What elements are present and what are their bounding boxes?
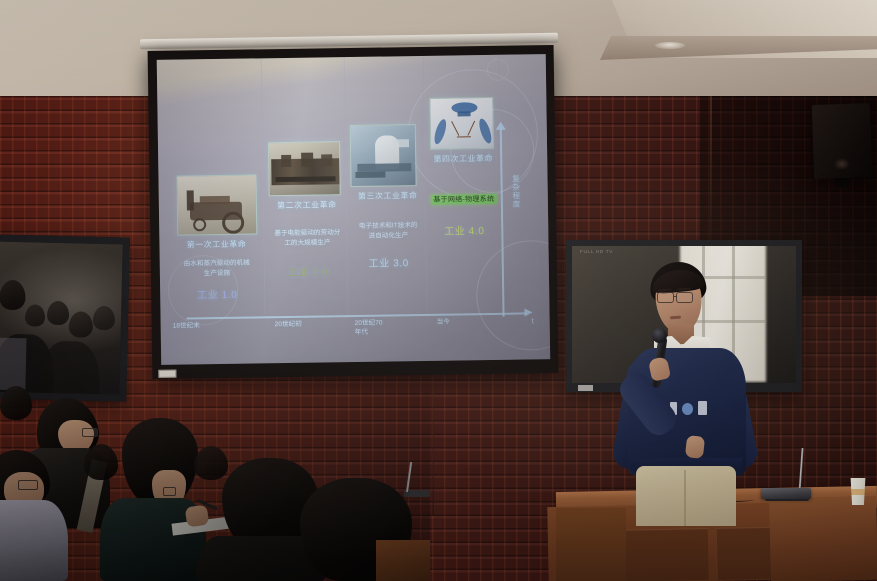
audience-glasses [163,487,176,496]
y-axis-label: 复杂程度 [510,174,522,208]
desk-side-left [556,508,626,581]
era-block-2: 第二次工业革命 基于电能驱动的劳动分 工的大规模生产 工业 2.0 [267,199,348,279]
era-2-description: 基于电能驱动的劳动分 工的大规模生产 [267,228,347,248]
wall-speaker [812,103,873,179]
slide-image-industrial-robot [350,124,417,187]
era-2-revolution-title: 第二次工业革命 [267,199,347,211]
glasses-right-lens [676,292,693,303]
presenter-right-hand [685,435,705,459]
audience-glasses [18,480,38,490]
x-axis-label: t [532,316,534,325]
era-block-3: 第三次工业革命 电子技术和IT技术的 进自动化生产 工业 3.0 [349,190,428,270]
era-2-version: 工业 2.0 [268,263,348,279]
sweater-motif [698,401,707,415]
era-1-version: 工业 1.0 [170,285,264,301]
audience-head [194,446,228,480]
sweater-motif [682,403,693,415]
projection-screen: 复杂程度 t [148,45,559,379]
left-monitor-screen [0,242,123,395]
audience-glasses [82,428,98,437]
x-tick-1: 18世纪末 [173,321,200,331]
left-monitor [0,234,130,401]
slide-image-steam-engine [176,174,257,235]
era-1-description: 由水和蒸汽驱动的机械 生产设施 [170,258,264,278]
desk-control-console[interactable] [761,488,811,499]
desk-section-right [769,496,877,581]
audience-hand [185,505,210,528]
paper-cup-band [850,489,866,495]
slide-image-assembly-line [268,141,341,196]
presenter [612,262,762,512]
era-4-description: 基于网络-物理系统 [431,194,496,205]
glasses-bridge [673,296,677,297]
era-1-revolution-title: 第一次工业革命 [169,238,263,250]
x-tick-3: 20世纪70 年代 [355,319,383,338]
era-3-description: 电子技术和IT技术的 进自动化生产 [349,221,427,241]
audience-head [84,444,118,480]
era-3-revolution-title: 第三次工业革命 [349,190,427,202]
era-3-version: 工业 3.0 [350,254,428,270]
ceiling-light-fixture [655,42,685,49]
slide-image-cps-diagram [429,97,494,150]
presenter-trousers [636,466,736,526]
slide-content: 复杂程度 t [157,54,550,365]
era-4-revolution-title: 第四次工业革命 [428,153,498,165]
column-divider [423,56,428,314]
screen-surface: 复杂程度 t [157,54,550,365]
photo-scene: 复杂程度 t [0,0,877,581]
y-axis [500,129,504,317]
audience-head [0,386,32,420]
screen-label-tag [158,370,176,378]
era-block-4: 第四次工业革命 基于网络-物理系统 工业 4.0 [428,153,499,238]
x-tick-2: 20世纪初 [275,320,302,330]
glasses-left-lens [657,292,674,303]
era-4-version: 工业 4.0 [429,222,499,238]
tv-brand-label: FULL HD TV [580,249,613,254]
era-block-1: 第一次工业革命 由水和蒸汽驱动的机械 生产设施 工业 1.0 [169,238,264,301]
audience-body [0,500,68,581]
chair-back [376,540,430,581]
tv-logo [578,385,593,391]
trouser-crease [684,470,686,526]
x-tick-4: 当今 [437,318,450,327]
